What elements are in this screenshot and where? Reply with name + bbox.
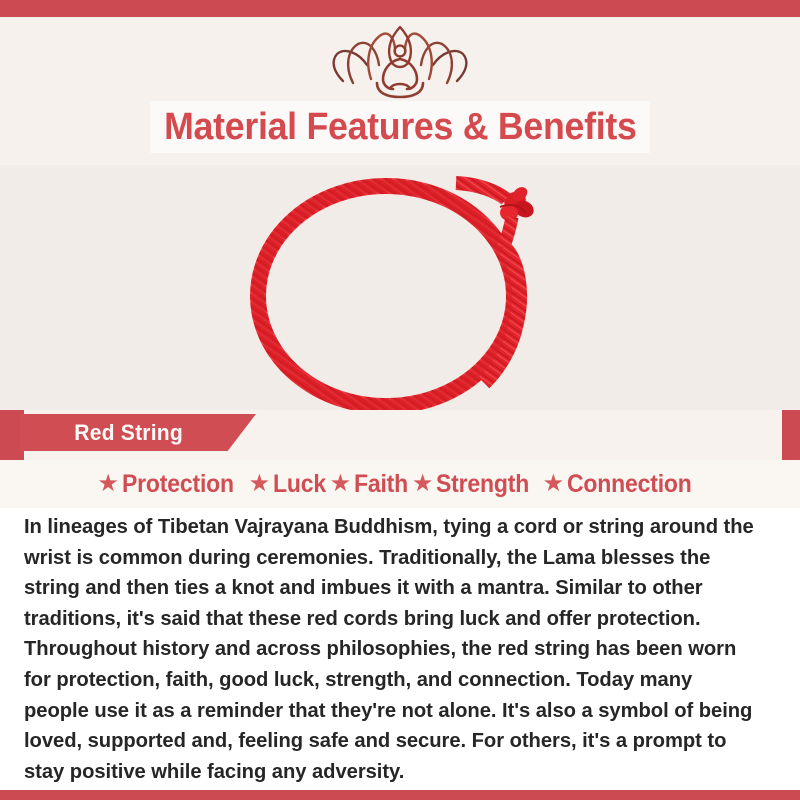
red-string-bracelet-icon <box>228 165 573 410</box>
material-name: Red String <box>74 420 183 446</box>
material-ribbon: Red String <box>20 414 256 451</box>
frame-bottom-border <box>0 790 800 800</box>
benefit-item: ★ Connection <box>543 470 703 499</box>
lotus-meditation-icon <box>325 21 475 99</box>
star-icon: ★ <box>97 472 119 496</box>
infographic-poster: BUDDHA STONES Material Features & Benefi… <box>0 0 800 800</box>
page-title: Material Features & Benefits <box>164 106 636 149</box>
product-image <box>0 165 800 410</box>
benefit-label: Protection <box>122 470 234 499</box>
benefit-item: ★ Luck <box>249 470 331 499</box>
star-icon: ★ <box>412 472 434 496</box>
benefit-item: ★ Strength <box>412 470 538 499</box>
star-icon: ★ <box>543 472 565 496</box>
title-band: Material Features & Benefits <box>150 101 650 153</box>
benefit-label: Connection <box>567 470 692 499</box>
description-block: In lineages of Tibetan Vajrayana Buddhis… <box>0 508 800 790</box>
benefit-label: Luck <box>273 470 326 499</box>
benefit-label: Faith <box>354 470 408 499</box>
frame-top-border <box>0 0 800 17</box>
benefits-row: ★ Protection ★ Luck ★ Faith ★ Strength ★… <box>0 460 800 508</box>
benefit-item: ★ Faith <box>330 470 413 499</box>
benefit-label: Strength <box>436 470 529 499</box>
star-icon: ★ <box>330 472 352 496</box>
description-text: In lineages of Tibetan Vajrayana Buddhis… <box>24 512 757 787</box>
benefit-item: ★ Protection <box>97 470 243 499</box>
star-icon: ★ <box>249 472 271 496</box>
